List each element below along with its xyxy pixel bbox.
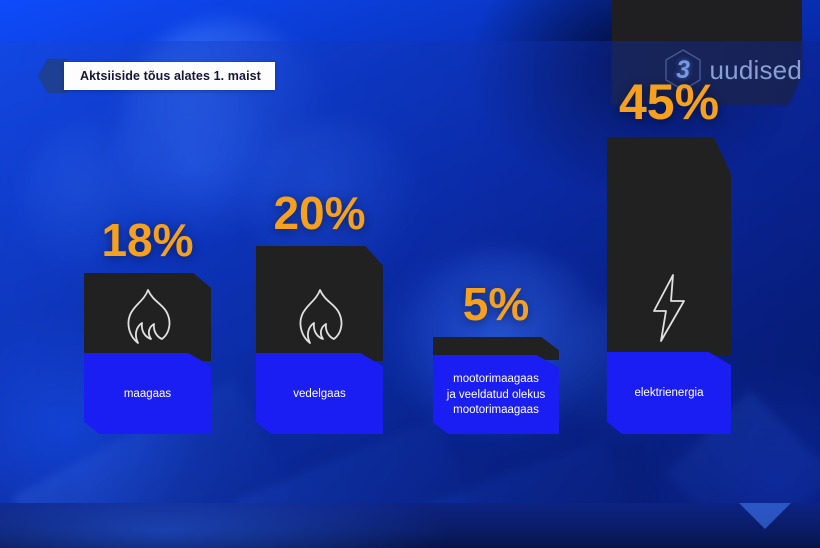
flame-icon [120, 287, 176, 349]
infographic-slide: Aktsiiside tõus alates 1. maist 3 uudise… [0, 0, 820, 548]
bar-stem [256, 246, 383, 361]
title-chip: Aktsiiside tõus alates 1. maist [38, 58, 275, 94]
bar-stem [84, 273, 211, 361]
bar-category-label: vedelgaas [293, 387, 345, 403]
bar-group-maagaas: 18% maagaas [84, 273, 211, 434]
bar-category-label: mootorimaagaas ja veeldatud olekus mooto… [447, 372, 545, 420]
bar-category-label: maagaas [124, 387, 171, 403]
bar-base: maagaas [84, 353, 211, 434]
bar-category-label: elektrienergia [634, 386, 703, 402]
bar-value-label: 5% [433, 281, 559, 327]
page-title: Aktsiiside tõus alates 1. maist [80, 69, 261, 83]
bar-base: elektrienergia [607, 352, 731, 434]
bar-base: mootorimaagaas ja veeldatud olekus mooto… [433, 355, 559, 434]
flame-icon [292, 287, 348, 349]
bar-value-label: 20% [256, 190, 383, 236]
lightning-bolt-icon [646, 273, 692, 343]
bar-value-label: 45% [607, 77, 731, 127]
bar-group-elektrienergia: 45% elektrienergia [607, 137, 731, 434]
title-box: Aktsiiside tõus alates 1. maist [64, 62, 275, 90]
bar-group-mootorimaagaas: 5% mootorimaagaas ja veeldatud olekus mo… [433, 337, 559, 434]
bar-base: vedelgaas [256, 353, 383, 434]
bar-stem [607, 137, 731, 355]
bar-group-vedelgaas: 20% vedelgaas [256, 246, 383, 434]
bar-value-label: 18% [84, 217, 211, 263]
